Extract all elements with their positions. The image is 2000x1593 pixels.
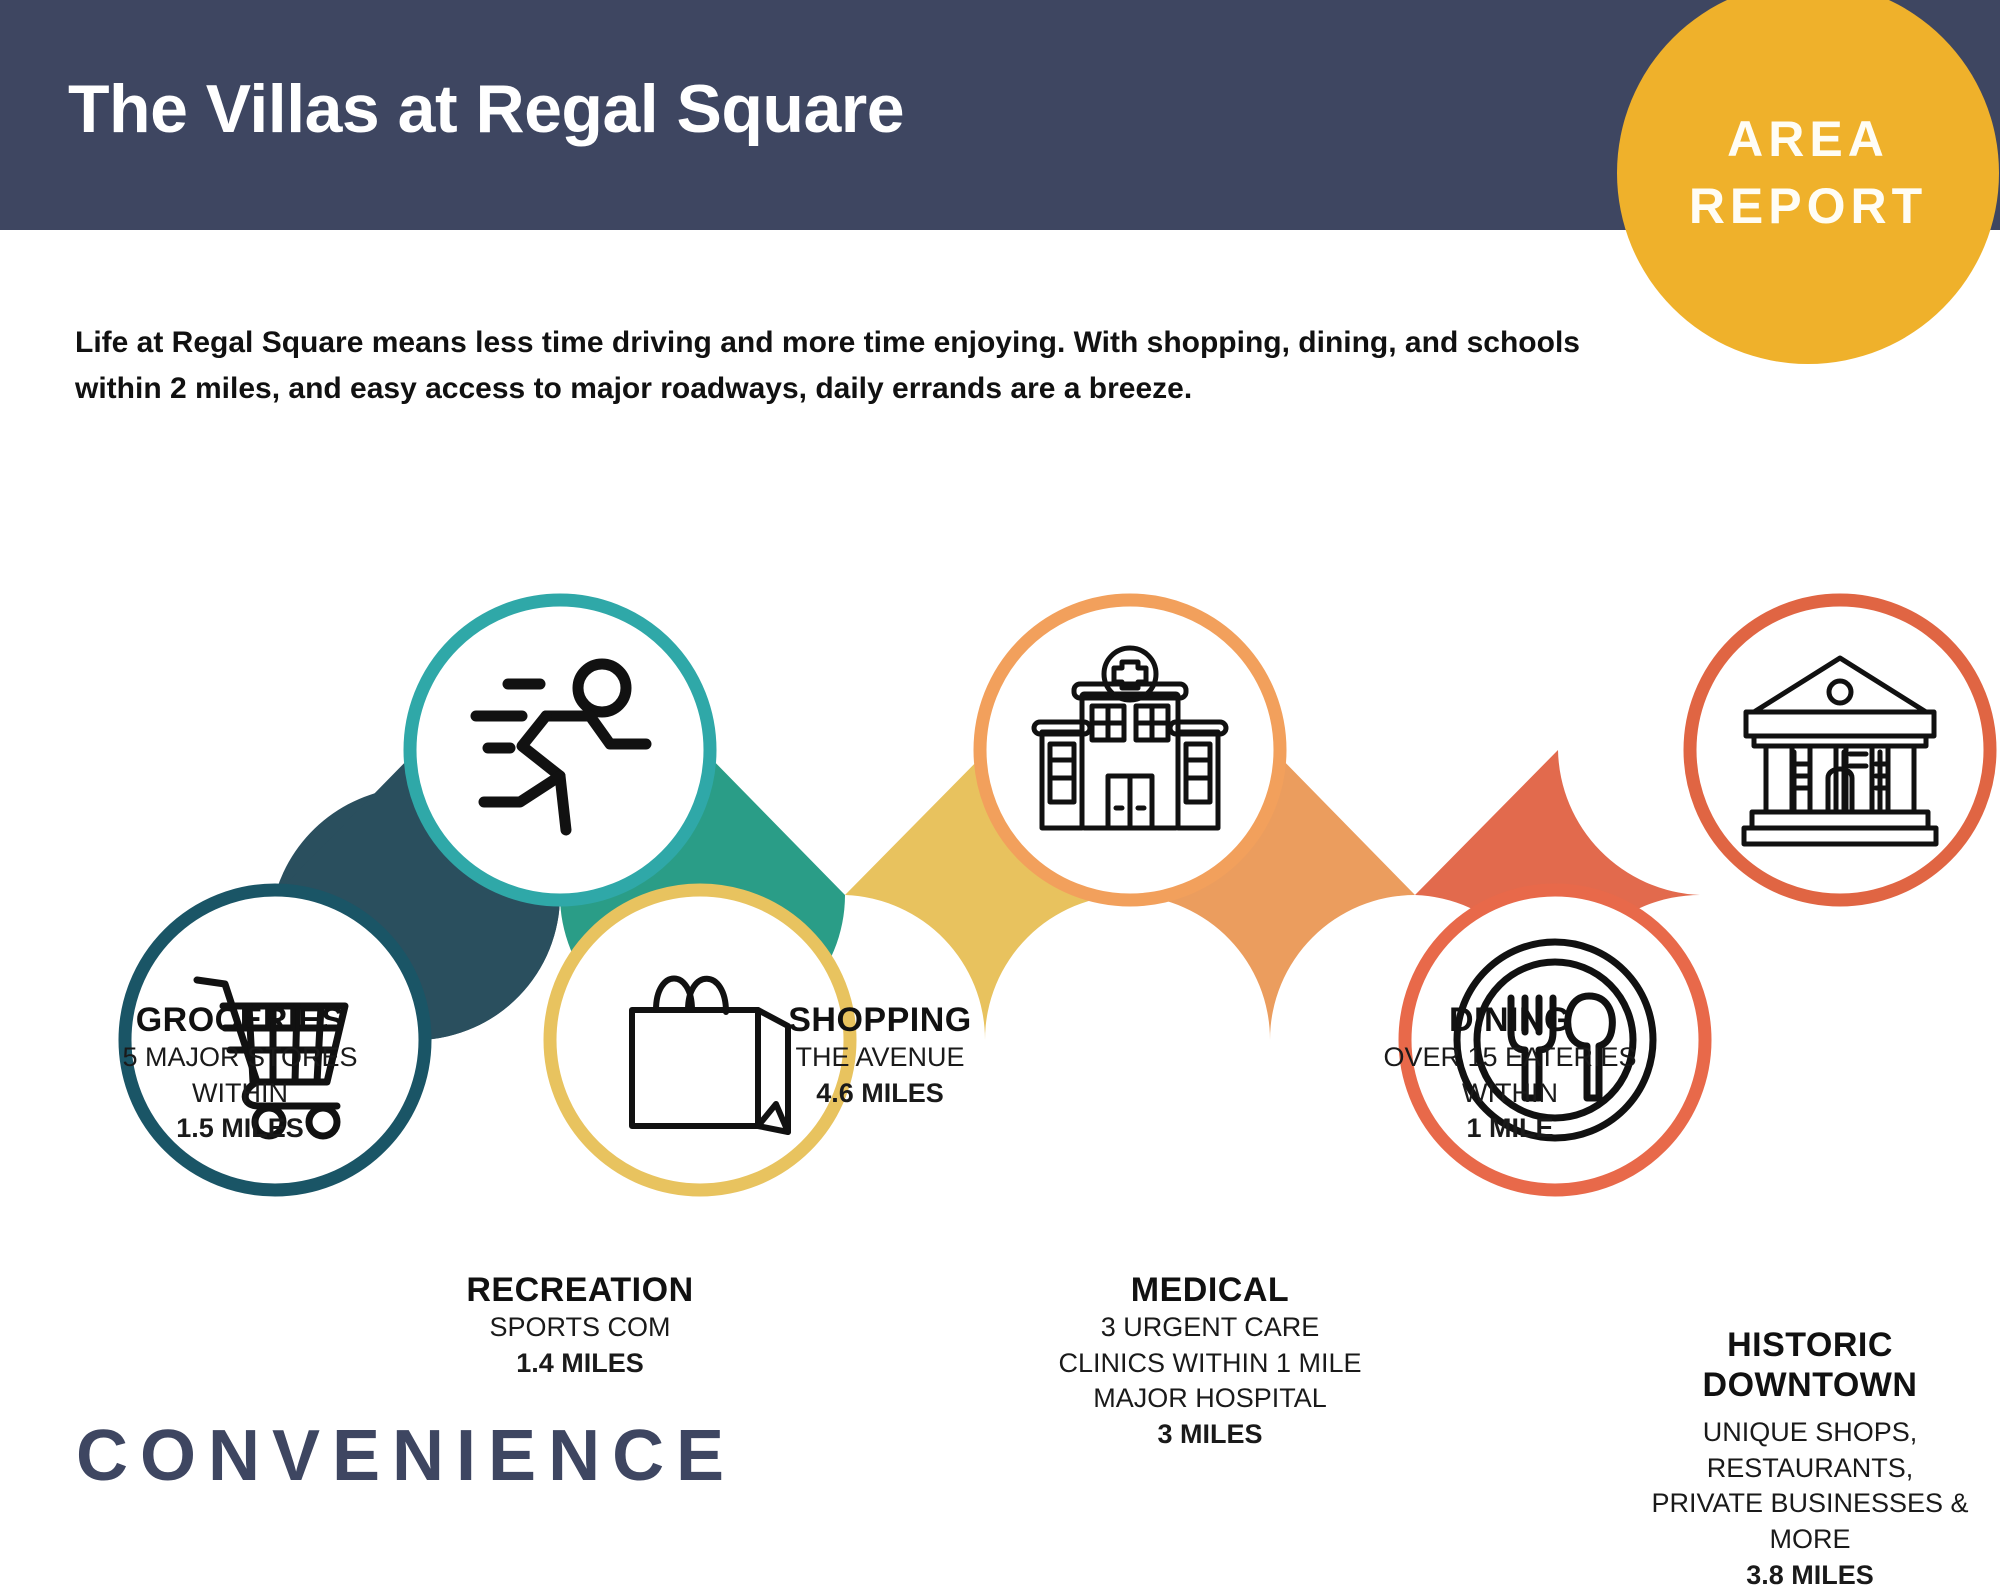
label-groceries-line1: 5 MAJOR STORES xyxy=(40,1040,440,1076)
label-medical-title: MEDICAL xyxy=(990,1270,1430,1310)
circle-medical[interactable] xyxy=(980,600,1280,900)
label-shopping-line1: THE AVENUE xyxy=(680,1040,1080,1076)
circle-historic-downtown[interactable] xyxy=(1690,600,1990,900)
intro-paragraph: Life at Regal Square means less time dri… xyxy=(75,320,1605,411)
label-dining-line1: OVER 15 EATERIES xyxy=(1300,1040,1720,1076)
circle-recreation[interactable] xyxy=(410,600,710,900)
label-historic-line4: MORE xyxy=(1620,1522,2000,1558)
badge-line-report: REPORT xyxy=(1689,173,1927,241)
label-recreation: RECREATION SPORTS COM 1.4 MILES xyxy=(380,1270,780,1381)
label-historic-title-2: DOWNTOWN xyxy=(1620,1365,2000,1405)
label-groceries-title: GROCERIES xyxy=(40,1000,440,1040)
label-dining-distance: 1 MILE xyxy=(1300,1111,1720,1147)
label-historic-line2: RESTAURANTS, xyxy=(1620,1451,2000,1487)
label-medical: MEDICAL 3 URGENT CARE CLINICS WITHIN 1 M… xyxy=(990,1270,1430,1453)
label-shopping-title: SHOPPING xyxy=(680,1000,1080,1040)
label-medical-distance: 3 MILES xyxy=(990,1417,1430,1453)
label-shopping: SHOPPING THE AVENUE 4.6 MILES xyxy=(680,1000,1080,1111)
label-historic-line3: PRIVATE BUSINESSES & xyxy=(1620,1486,2000,1522)
label-medical-line1: 3 URGENT CARE xyxy=(990,1310,1430,1346)
label-historic-title-1: HISTORIC xyxy=(1620,1325,2000,1365)
label-groceries: GROCERIES 5 MAJOR STORES WITHIN 1.5 MILE… xyxy=(40,1000,440,1147)
label-medical-line2: CLINICS WITHIN 1 MILE xyxy=(990,1346,1430,1382)
label-dining-line2: WITHIN xyxy=(1300,1076,1720,1112)
label-groceries-line2: WITHIN xyxy=(40,1076,440,1112)
label-recreation-title: RECREATION xyxy=(380,1270,780,1310)
page-title: The Villas at Regal Square xyxy=(68,70,904,148)
convenience-chain-diagram xyxy=(0,440,2000,1340)
label-recreation-line1: SPORTS COM xyxy=(380,1310,780,1346)
badge-line-area: AREA xyxy=(1727,106,1889,174)
label-historic-line1: UNIQUE SHOPS, xyxy=(1620,1415,2000,1451)
area-report-badge: AREA REPORT xyxy=(1617,0,1999,364)
label-historic-distance: 3.8 MILES xyxy=(1620,1558,2000,1593)
label-shopping-distance: 4.6 MILES xyxy=(680,1076,1080,1112)
label-recreation-distance: 1.4 MILES xyxy=(380,1346,780,1382)
label-historic-downtown: HISTORIC DOWNTOWN UNIQUE SHOPS, RESTAURA… xyxy=(1620,1325,2000,1593)
label-medical-line3: MAJOR HOSPITAL xyxy=(990,1381,1430,1417)
label-dining-title: DINING xyxy=(1300,1000,1720,1040)
label-groceries-distance: 1.5 MILES xyxy=(40,1111,440,1147)
label-dining: DINING OVER 15 EATERIES WITHIN 1 MILE xyxy=(1300,1000,1720,1147)
footer-heading: CONVENIENCE xyxy=(76,1415,736,1497)
